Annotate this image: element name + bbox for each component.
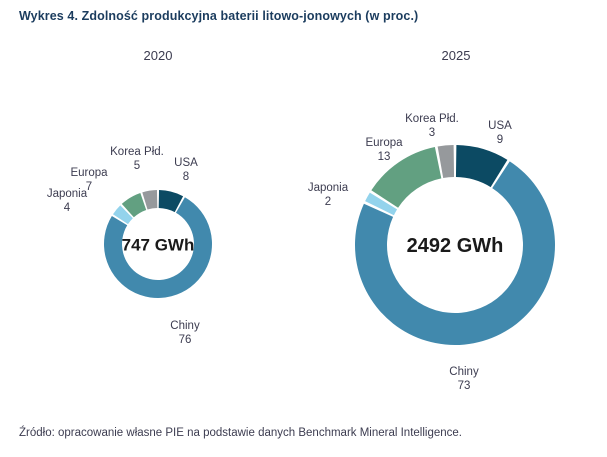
slice-label-value: 13 [378,151,391,163]
slice-label-name: USA [488,120,512,132]
slice-label-value: 5 [134,160,140,172]
slice-label-name: Japonia [47,188,88,200]
donut-center-value: 747 GWh [122,236,195,255]
year-label-2020: 2020 [120,48,196,63]
slice-label-value: 76 [179,334,192,346]
page-title: Wykres 4. Zdolność produkcyjna baterii l… [19,9,418,23]
slice-label-name: Japonia [308,182,349,194]
slice-label-value: 8 [183,171,189,183]
slice-label-value: 7 [86,181,92,193]
donut-center-value: 2492 GWh [407,235,504,257]
slice-label-name: Chiny [170,320,200,332]
slice-label-value: 3 [429,127,435,139]
slice-label-name: USA [174,157,198,169]
slice-label-value: 73 [458,380,471,392]
slice-label-name: Europa [70,167,108,179]
slice-label-value: 2 [325,196,331,208]
year-label-2025: 2025 [418,48,494,63]
slice-label-name: Korea Płd. [110,146,164,158]
slice-label-value: 9 [497,134,503,146]
donut-chart-2025: 2492 GWhUSA9Chiny73Japonia2Europa13Korea… [300,100,607,400]
slice-label-value: 4 [64,202,71,214]
slice-label-name: Europa [365,137,403,149]
donut-chart-2020: 747 GWhUSA8Chiny76Japonia4Europa7Korea P… [40,126,276,362]
source-note: Źródło: opracowanie własne PIE na podsta… [19,427,462,439]
slice-label-name: Chiny [449,366,479,378]
slice-label-name: Korea Płd. [405,113,459,125]
